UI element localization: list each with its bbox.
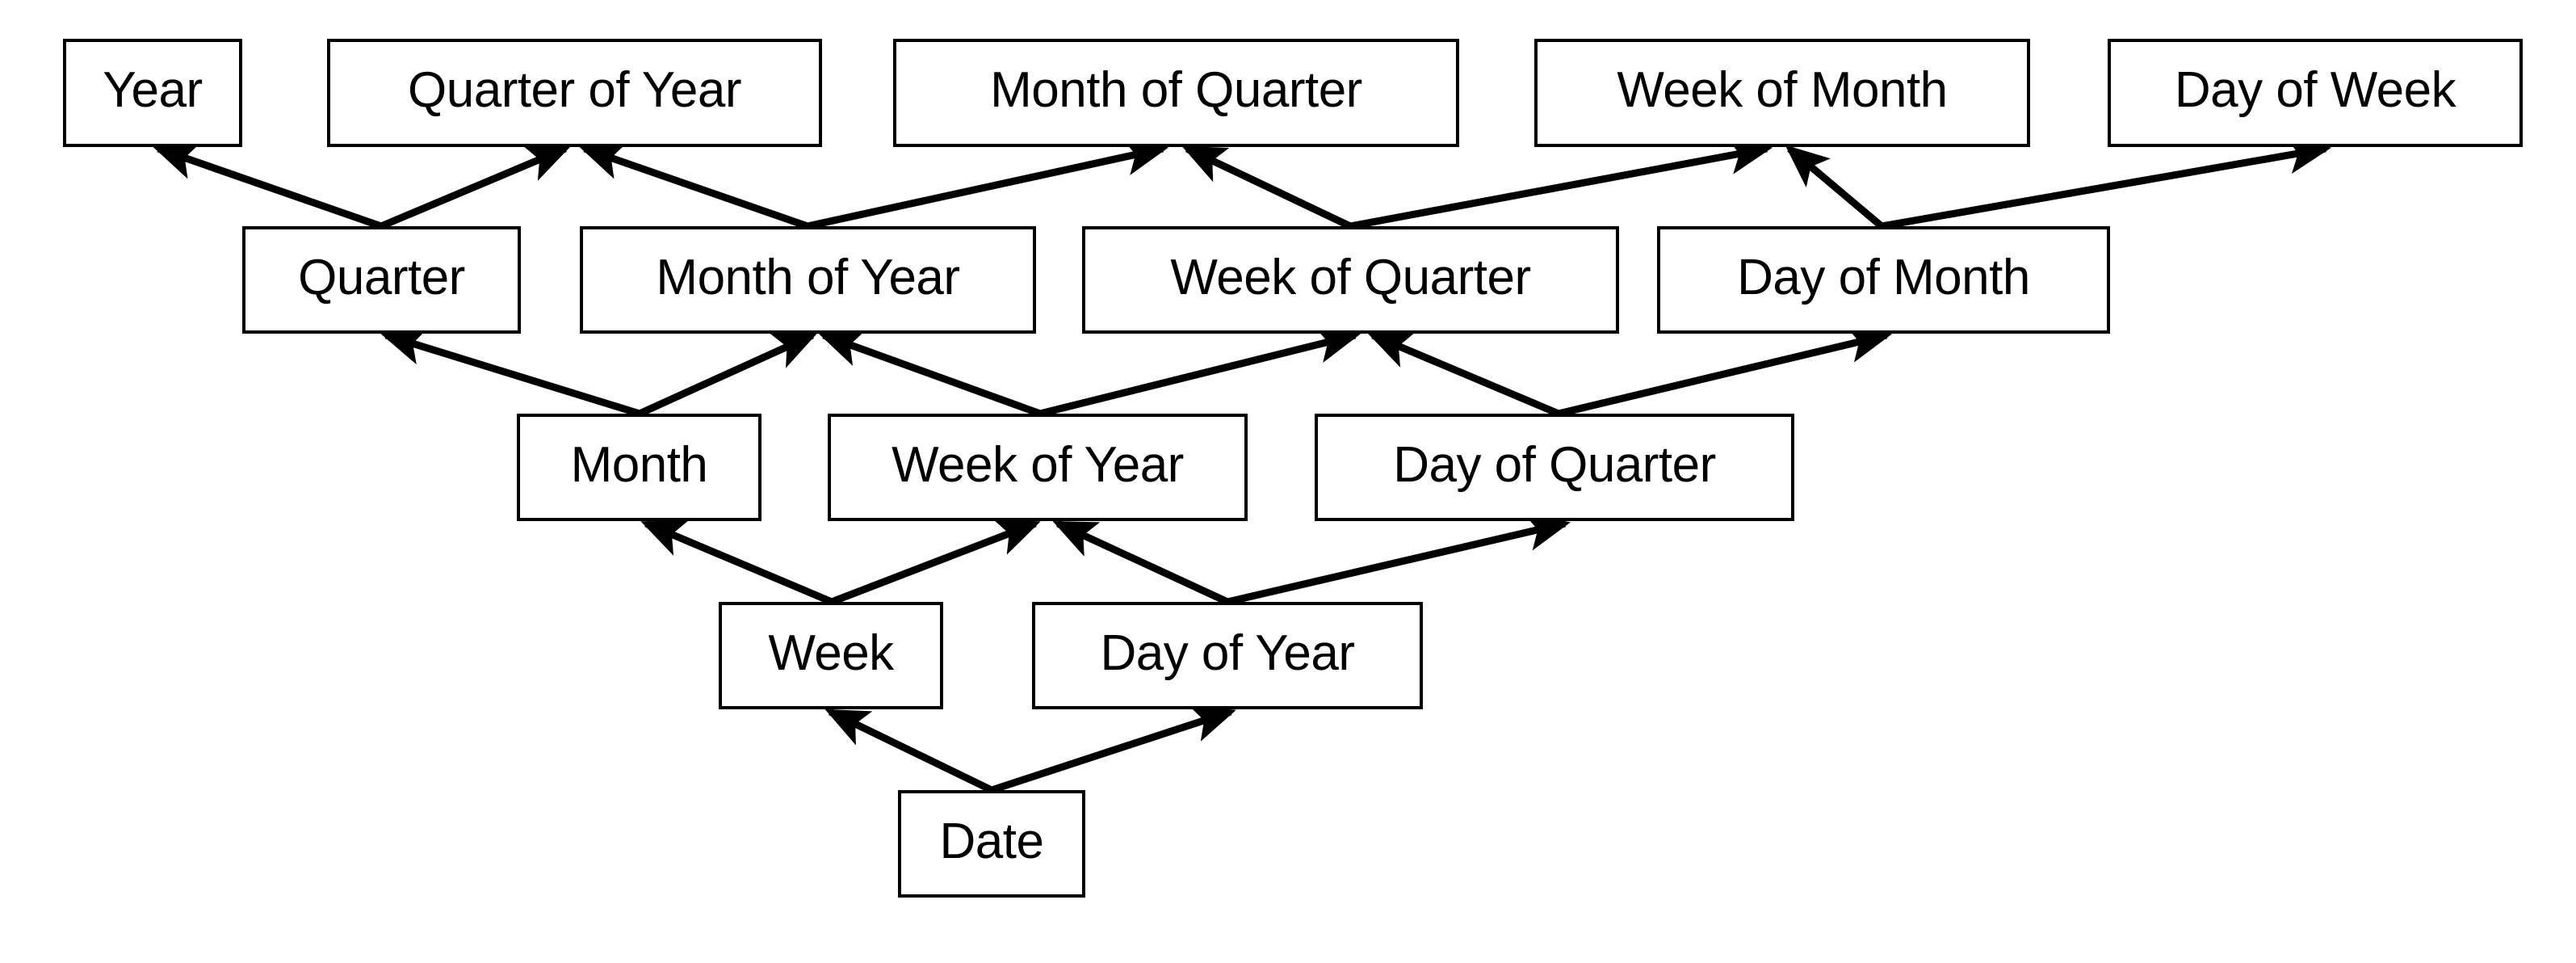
- edge-date-to-week: [830, 712, 992, 790]
- edge-month_of_year-to-month_of_quarter: [808, 149, 1163, 226]
- node-label: Date: [940, 817, 1044, 872]
- node-date[interactable]: Date: [898, 790, 1085, 898]
- node-label: Week: [768, 629, 893, 683]
- node-label: Day of Quarter: [1393, 440, 1716, 495]
- edge-month-to-quarter: [386, 335, 640, 414]
- node-year[interactable]: Year: [63, 39, 242, 147]
- node-label: Week of Quarter: [1170, 253, 1530, 308]
- node-day_of_quarter[interactable]: Day of Quarter: [1315, 414, 1794, 521]
- edge-quarter-to-quarter_of_year: [381, 149, 565, 226]
- edge-day_of_month-to-week_of_month: [1789, 149, 1882, 226]
- node-label: Quarter: [298, 253, 465, 308]
- node-label: Week of Month: [1617, 65, 1947, 120]
- diagram-canvas: YearQuarter of YearMonth of QuarterWeek …: [0, 0, 2576, 963]
- edge-week-to-week_of_year: [832, 524, 1035, 602]
- node-day_of_month[interactable]: Day of Month: [1657, 226, 2110, 334]
- node-label: Month: [571, 440, 708, 495]
- node-week_of_month[interactable]: Week of Month: [1534, 39, 2030, 147]
- node-quarter[interactable]: Quarter: [242, 226, 521, 334]
- node-month_of_quarter[interactable]: Month of Quarter: [893, 39, 1459, 147]
- edge-quarter-to-year: [158, 149, 381, 226]
- edge-week-to-month: [646, 524, 832, 602]
- edge-day_of_month-to-day_of_week: [1882, 149, 2326, 226]
- node-label: Week of Year: [892, 440, 1184, 495]
- edge-day_of_year-to-day_of_quarter: [1227, 524, 1565, 602]
- node-label: Day of Year: [1100, 629, 1354, 683]
- node-day_of_week[interactable]: Day of Week: [2108, 39, 2523, 147]
- edge-month_of_year-to-quarter_of_year: [585, 149, 808, 226]
- edge-week_of_year-to-week_of_quarter: [1040, 335, 1355, 414]
- node-label: Month of Year: [656, 253, 959, 308]
- node-month_of_year[interactable]: Month of Year: [580, 226, 1036, 334]
- node-week[interactable]: Week: [719, 602, 943, 709]
- node-day_of_year[interactable]: Day of Year: [1032, 602, 1423, 709]
- edge-day_of_quarter-to-day_of_month: [1559, 335, 1886, 414]
- node-week_of_quarter[interactable]: Week of Quarter: [1082, 226, 1619, 334]
- node-quarter_of_year[interactable]: Quarter of Year: [327, 39, 822, 147]
- node-label: Month of Quarter: [990, 65, 1362, 120]
- edge-date-to-day_of_year: [992, 712, 1231, 790]
- node-week_of_year[interactable]: Week of Year: [828, 414, 1248, 521]
- edge-day_of_quarter-to-week_of_quarter: [1373, 335, 1559, 414]
- edge-month-to-month_of_year: [640, 335, 812, 414]
- node-label: Quarter of Year: [408, 65, 741, 120]
- node-month[interactable]: Month: [517, 414, 761, 521]
- edge-week_of_year-to-month_of_year: [824, 335, 1040, 414]
- node-label: Year: [103, 65, 202, 120]
- edge-week_of_quarter-to-month_of_quarter: [1187, 149, 1350, 226]
- node-label: Day of Week: [2175, 65, 2456, 120]
- node-label: Day of Month: [1737, 253, 2030, 308]
- edge-day_of_year-to-week_of_year: [1058, 524, 1227, 602]
- edge-week_of_quarter-to-week_of_month: [1350, 149, 1767, 226]
